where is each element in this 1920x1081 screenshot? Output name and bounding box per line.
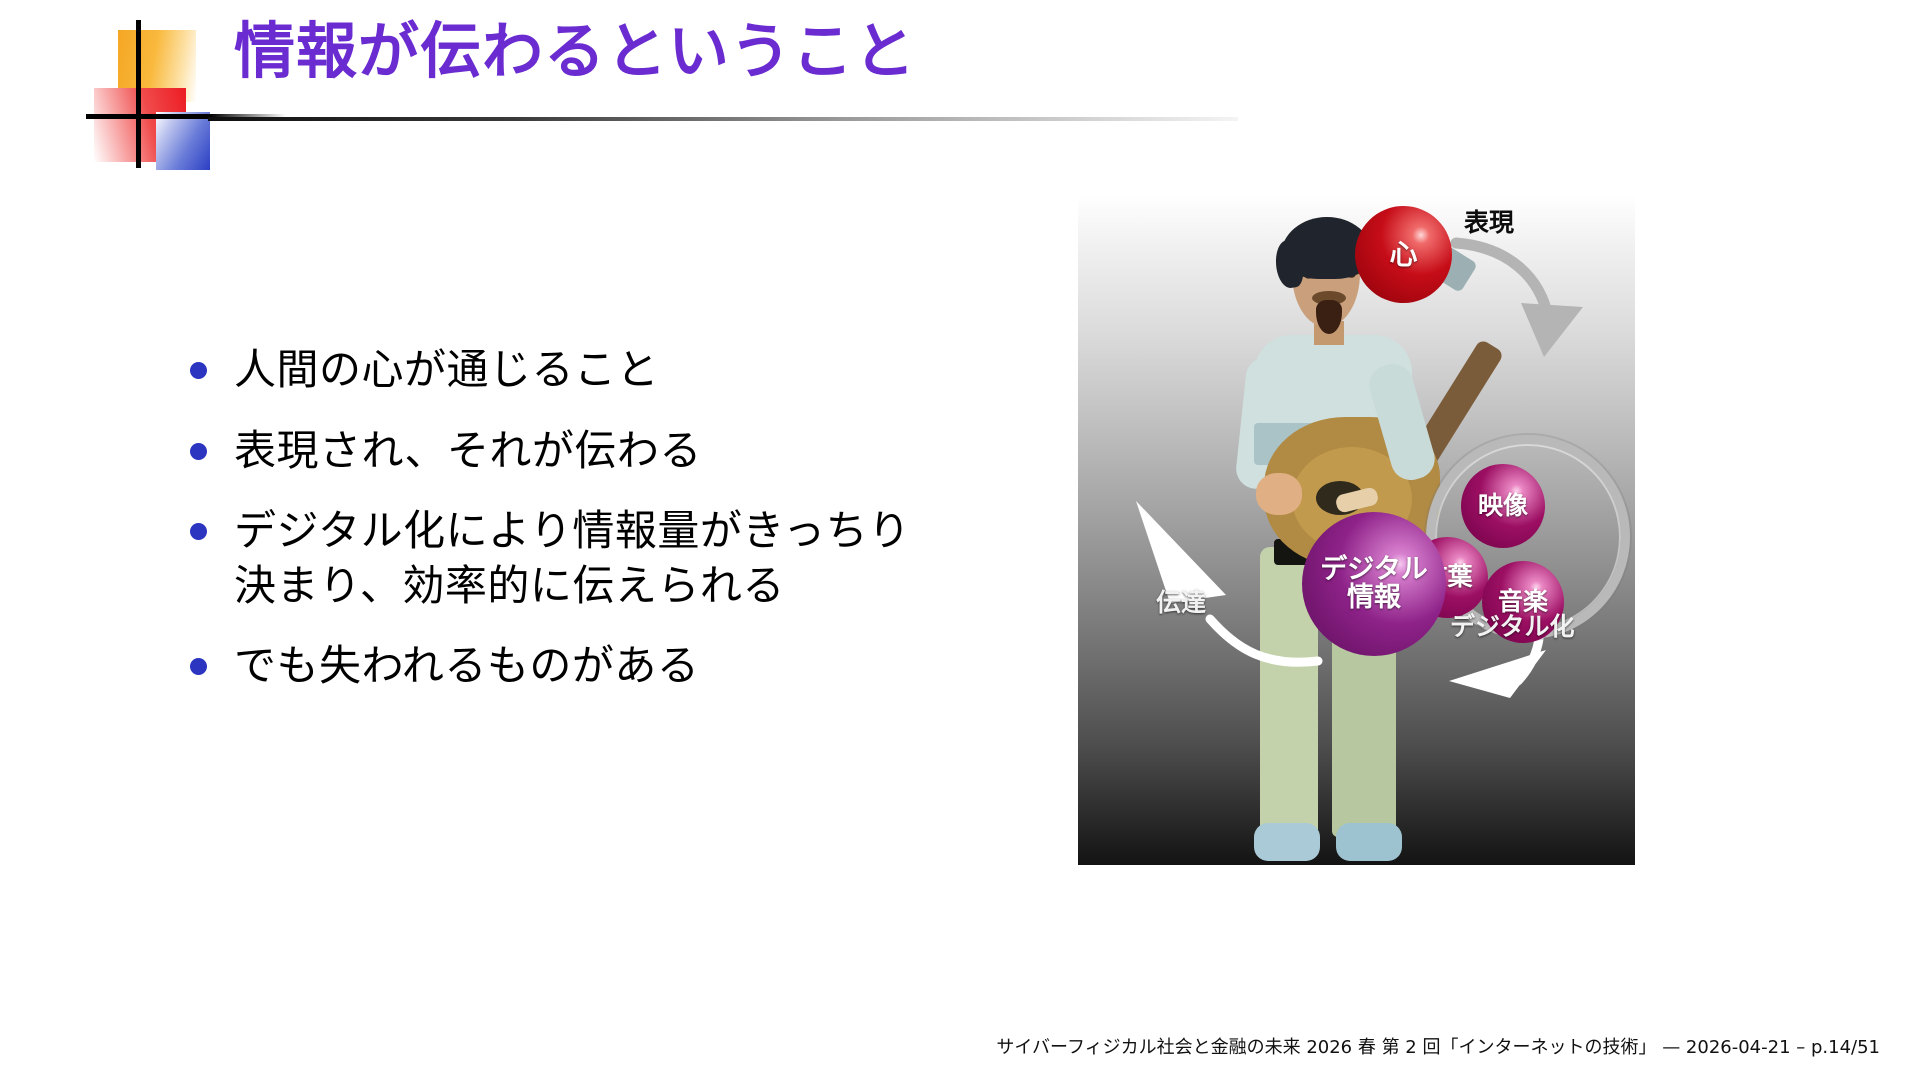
hyougen-arrow-head xyxy=(1521,303,1583,357)
list-item: 人間の心が通じること xyxy=(190,343,950,398)
sphere-kokoro-label: 心 xyxy=(1389,240,1417,269)
decorative-logo-mark xyxy=(78,14,213,159)
sphere-eizou-label: 映像 xyxy=(1478,493,1528,519)
title-underline-rule xyxy=(208,117,1238,121)
logo-crosshair-vertical xyxy=(136,20,141,168)
label-dejitaruka: デジタル化 xyxy=(1450,607,1575,643)
guitarist-hand-left xyxy=(1256,473,1302,515)
sphere-kokoro: 心 xyxy=(1355,206,1452,303)
concept-diagram-image: 心 映像 言葉 音楽 デジタル 情報 表現 伝達 デジタル化 xyxy=(1078,195,1635,865)
slide-footer: サイバーフィジカル社会と金融の未来 2026 春 第 2 回「インターネットの技… xyxy=(996,1033,1880,1059)
bullet-dot-icon xyxy=(190,658,207,675)
bullet-list: 人間の心が通じること 表現され、それが伝わる デジタル化により情報量がきっちり … xyxy=(190,343,950,720)
guitarist-shoe-right xyxy=(1336,823,1402,861)
bullet-text: デジタル化により情報量がきっちり 決まり、効率的に伝えられる xyxy=(234,504,911,613)
guitarist-shoe-left xyxy=(1254,823,1320,861)
label-hyougen: 表現 xyxy=(1464,203,1514,239)
sphere-digital-label-line1: デジタル xyxy=(1320,556,1427,584)
bullet-dot-icon xyxy=(190,362,207,379)
list-item: 表現され、それが伝わる xyxy=(190,424,950,479)
bullet-line: でも失われるものがある xyxy=(234,639,699,694)
list-item: でも失われるものがある xyxy=(190,639,950,694)
bullet-line: デジタル化により情報量がきっちり xyxy=(234,504,911,559)
dejitaruka-arrow-head xyxy=(1449,650,1546,698)
bullet-text: 人間の心が通じること xyxy=(234,343,659,398)
logo-square-blue xyxy=(156,112,210,170)
sphere-eizou: 映像 xyxy=(1461,464,1545,548)
bullet-text: でも失われるものがある xyxy=(234,639,699,694)
bullet-dot-icon xyxy=(190,443,207,460)
bullet-line: 決まり、効率的に伝えられる xyxy=(234,559,911,614)
bullet-line: 表現され、それが伝わる xyxy=(234,424,702,479)
sphere-digital-information: デジタル 情報 xyxy=(1302,512,1446,656)
bullet-text: 表現され、それが伝わる xyxy=(234,424,702,479)
bullet-line: 人間の心が通じること xyxy=(234,343,659,398)
bullet-dot-icon xyxy=(190,523,207,540)
label-dentatsu: 伝達 xyxy=(1156,583,1206,619)
hyougen-arrow-curve xyxy=(1456,243,1548,317)
list-item: デジタル化により情報量がきっちり 決まり、効率的に伝えられる xyxy=(190,504,950,613)
slide-canvas: 情報が伝わるということ 人間の心が通じること 表現され、それが伝わる デジタル化… xyxy=(0,0,1920,1081)
page-title: 情報が伝わるということ xyxy=(234,17,916,87)
sphere-digital-label-line2: 情報 xyxy=(1320,584,1427,612)
